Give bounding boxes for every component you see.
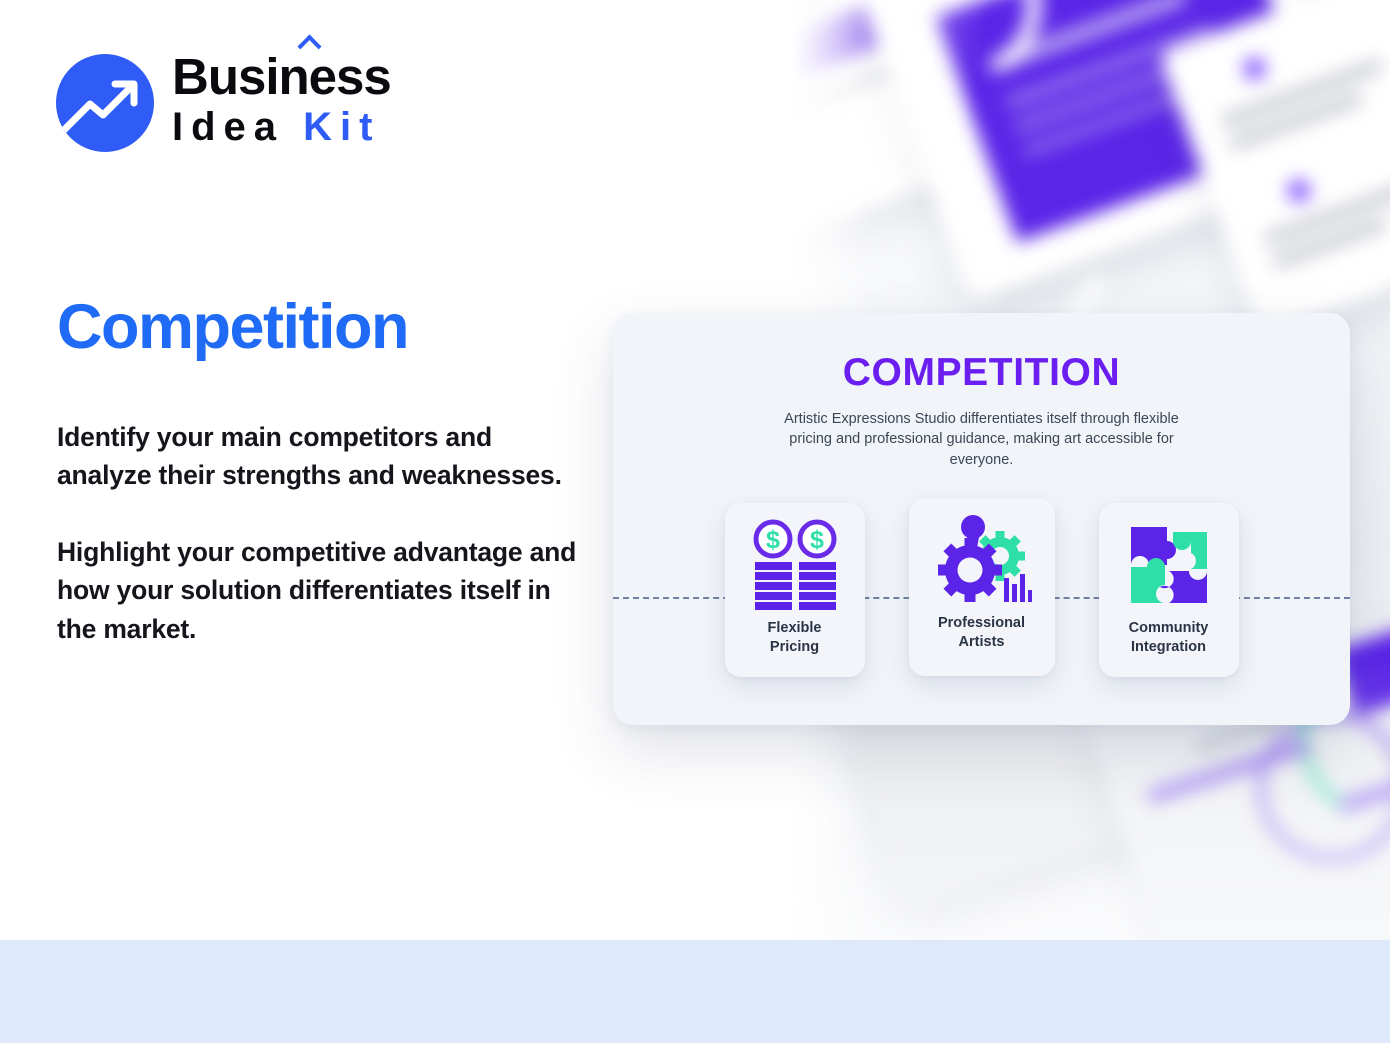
brand-name-line2-accent: Kit <box>303 105 380 149</box>
growth-arrow-chart-icon <box>56 54 154 152</box>
gears-lightbulb-chart-icon <box>932 510 1032 610</box>
svg-text:$: $ <box>766 526 780 554</box>
card-subtitle: Artistic Expressions Studio differentiat… <box>767 409 1197 470</box>
feature-label-line1: Flexible <box>768 620 822 636</box>
body-paragraph: Identify your main competitors and analy… <box>57 418 577 494</box>
feature-row: $ $ <box>613 503 1350 677</box>
feature-label-line2: Pricing <box>770 639 819 655</box>
feature-label: Flexible Pricing <box>768 619 822 657</box>
svg-text:$: $ <box>810 526 824 554</box>
feature-card-flexible-pricing[interactable]: $ $ <box>725 503 865 677</box>
feature-label-line1: Community <box>1129 620 1209 636</box>
brand-name-line1: Business <box>172 51 391 102</box>
page-title: Competition <box>57 296 408 359</box>
bottom-accent-bar <box>0 940 1390 1043</box>
slide-canvas: Business Idea Kit Competition Identify y… <box>0 0 1390 1043</box>
feature-card-community-integration[interactable]: Community Integration <box>1099 503 1239 677</box>
feature-card-professional-artists[interactable]: Professional Artists <box>909 498 1055 676</box>
brand-logo[interactable]: Business Idea Kit <box>56 53 391 152</box>
feature-label-line2: Integration <box>1131 639 1206 655</box>
feature-label-line1: Professional <box>938 615 1025 631</box>
coin-stacks-dollar-icon: $ $ <box>745 515 845 615</box>
feature-label: Professional Artists <box>938 614 1025 652</box>
brand-name-line2-dark: Idea <box>172 105 284 149</box>
brand-name-line1-text: Business <box>172 48 391 105</box>
competition-preview-card[interactable]: COMPETITION Artistic Expressions Studio … <box>613 313 1350 725</box>
feature-label: Community Integration <box>1129 619 1209 657</box>
brand-wordmark: Business Idea Kit <box>172 51 391 150</box>
feature-label-line2: Artists <box>959 634 1005 650</box>
body-copy: Identify your main competitors and analy… <box>57 418 577 648</box>
body-paragraph: Highlight your competitive advantage and… <box>57 533 577 647</box>
puzzle-pieces-icon <box>1119 515 1219 615</box>
brand-name-line2: Idea Kit <box>172 104 391 150</box>
card-title: COMPETITION <box>613 351 1350 395</box>
